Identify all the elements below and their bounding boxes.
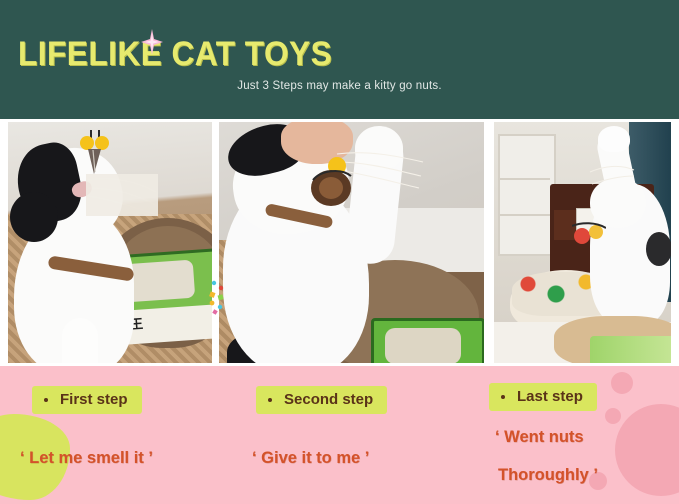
step-2-badge: Second step bbox=[256, 386, 387, 414]
page-title: LIFELIKE CAT TOYS bbox=[18, 35, 332, 74]
step-1-badge: First step bbox=[32, 386, 142, 414]
steps-section: First step ‘ Let me smell it ’ Second st… bbox=[0, 366, 679, 504]
step-photo-2 bbox=[219, 122, 484, 363]
photo-strip: 天王 bbox=[0, 119, 679, 366]
cat-toy-3 bbox=[572, 220, 606, 250]
cat-toy-2 bbox=[307, 156, 359, 212]
step-2-badge-label: Second step bbox=[284, 391, 373, 408]
step-1-quote: ‘ Let me smell it ’ bbox=[20, 449, 153, 468]
step-3-badge-label: Last step bbox=[517, 388, 583, 405]
step-1-badge-label: First step bbox=[60, 391, 128, 408]
step-3-badge: Last step bbox=[489, 383, 597, 411]
header-banner: LIFELIKE CAT TOYS Just 3 Steps may make … bbox=[0, 0, 679, 119]
step-1: First step ‘ Let me smell it ’ bbox=[0, 366, 235, 504]
infographic-page: LIFELIKE CAT TOYS Just 3 Steps may make … bbox=[0, 0, 679, 504]
step-2-quote: ‘ Give it to me ’ bbox=[252, 449, 369, 468]
bullet-dot-icon bbox=[268, 398, 272, 402]
step-photo-1: 天王 bbox=[8, 122, 212, 363]
cat-toy-1 bbox=[74, 130, 114, 174]
step-photo-3 bbox=[494, 122, 671, 363]
page-subtitle: Just 3 Steps may make a kitty go nuts. bbox=[0, 80, 679, 92]
step-3-quote-line-2: Thoroughly ’ bbox=[498, 466, 598, 485]
step-2: Second step ‘ Give it to me ’ bbox=[235, 366, 465, 504]
bullet-dot-icon bbox=[501, 395, 505, 399]
confetti-decoration bbox=[206, 279, 228, 317]
step-3-quote-line-1: ‘ Went nuts bbox=[495, 428, 584, 447]
bullet-dot-icon bbox=[44, 398, 48, 402]
step-3: Last step ‘ Went nuts Thoroughly ’ bbox=[465, 366, 679, 504]
